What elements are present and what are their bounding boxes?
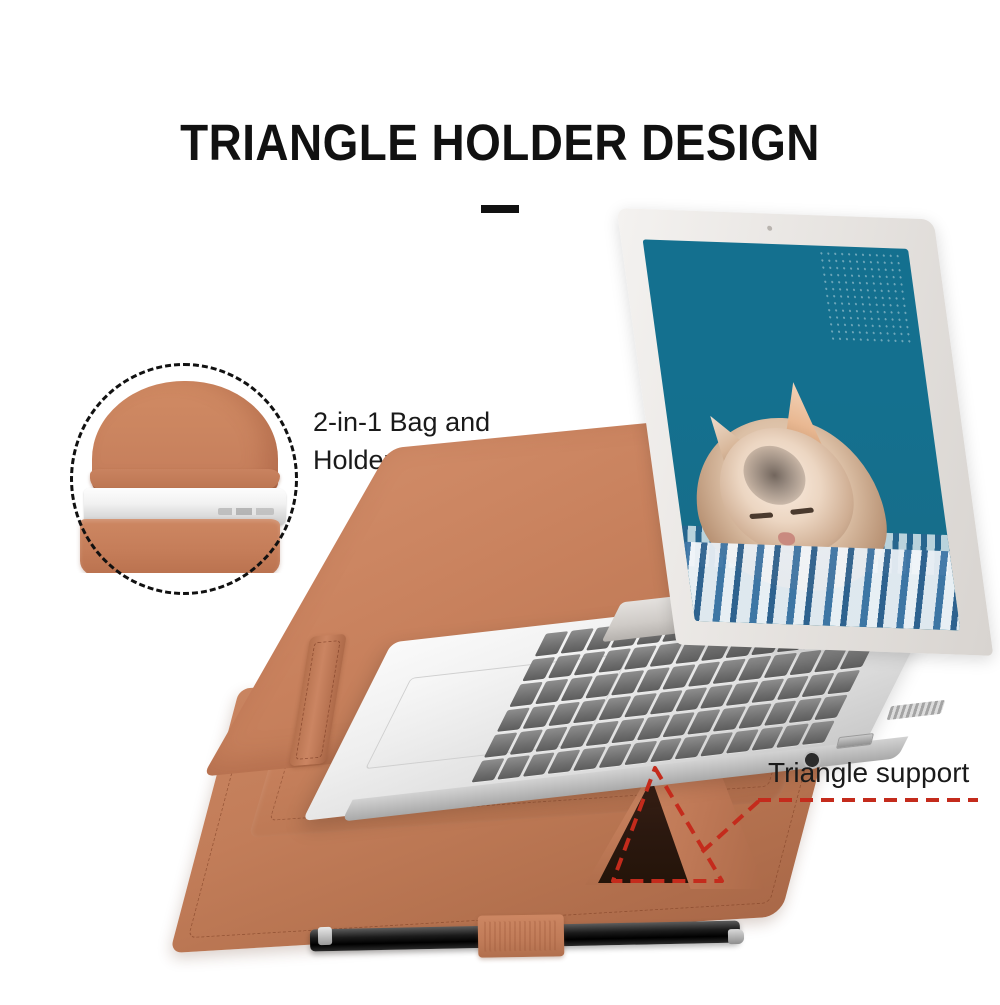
title-divider — [481, 205, 519, 213]
pen-tip — [728, 929, 744, 944]
pen-holder-loop — [478, 914, 565, 957]
pen-loop-texture — [484, 920, 559, 951]
hero-product-photo — [190, 215, 1000, 975]
laptop — [190, 215, 1000, 975]
speaker-grille — [887, 700, 946, 720]
blanket-front — [684, 542, 960, 631]
laptop-lid — [617, 208, 994, 656]
triangle-support-label: Triangle support — [768, 757, 969, 789]
screen-texture — [817, 250, 915, 344]
pen-cap-ring — [318, 927, 332, 945]
laptop-screen — [643, 239, 961, 630]
webcam-icon — [767, 226, 773, 231]
page-title: TRIANGLE HOLDER DESIGN — [50, 113, 950, 172]
